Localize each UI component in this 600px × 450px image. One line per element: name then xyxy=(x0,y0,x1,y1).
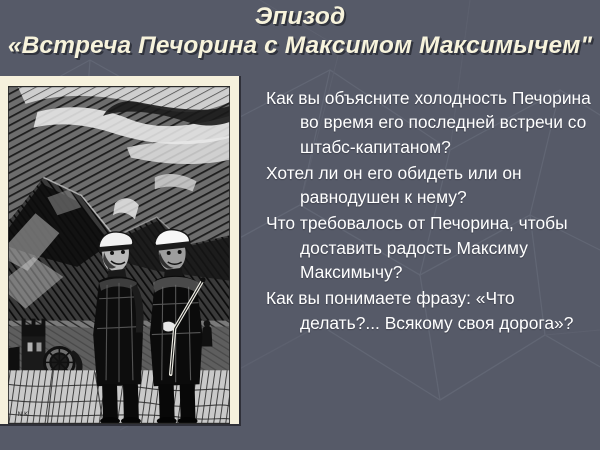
question-item: Как вы понимаете фразу: «Что делать?... … xyxy=(266,286,594,335)
svg-text:N.K.: N.K. xyxy=(18,411,30,418)
question-item: Хотел ли он его обидеть или он равнодуше… xyxy=(266,161,594,210)
question-list: Как вы объясните холодность Печорина во … xyxy=(266,86,594,337)
slide-title: Эпизод «Встреча Печорина с Максимом Макс… xyxy=(0,2,600,60)
slide-title-line-2: «Встреча Печорина с Максимом Максимычем" xyxy=(0,31,600,60)
slide-title-line-1: Эпизод xyxy=(0,2,600,31)
question-item: Что требовалось от Печорина, чтобы доста… xyxy=(266,211,594,284)
illustration-image: N.K. xyxy=(8,86,230,424)
question-item: Как вы объясните холодность Печорина во … xyxy=(266,86,594,159)
illustration-frame: N.K. xyxy=(0,76,241,426)
